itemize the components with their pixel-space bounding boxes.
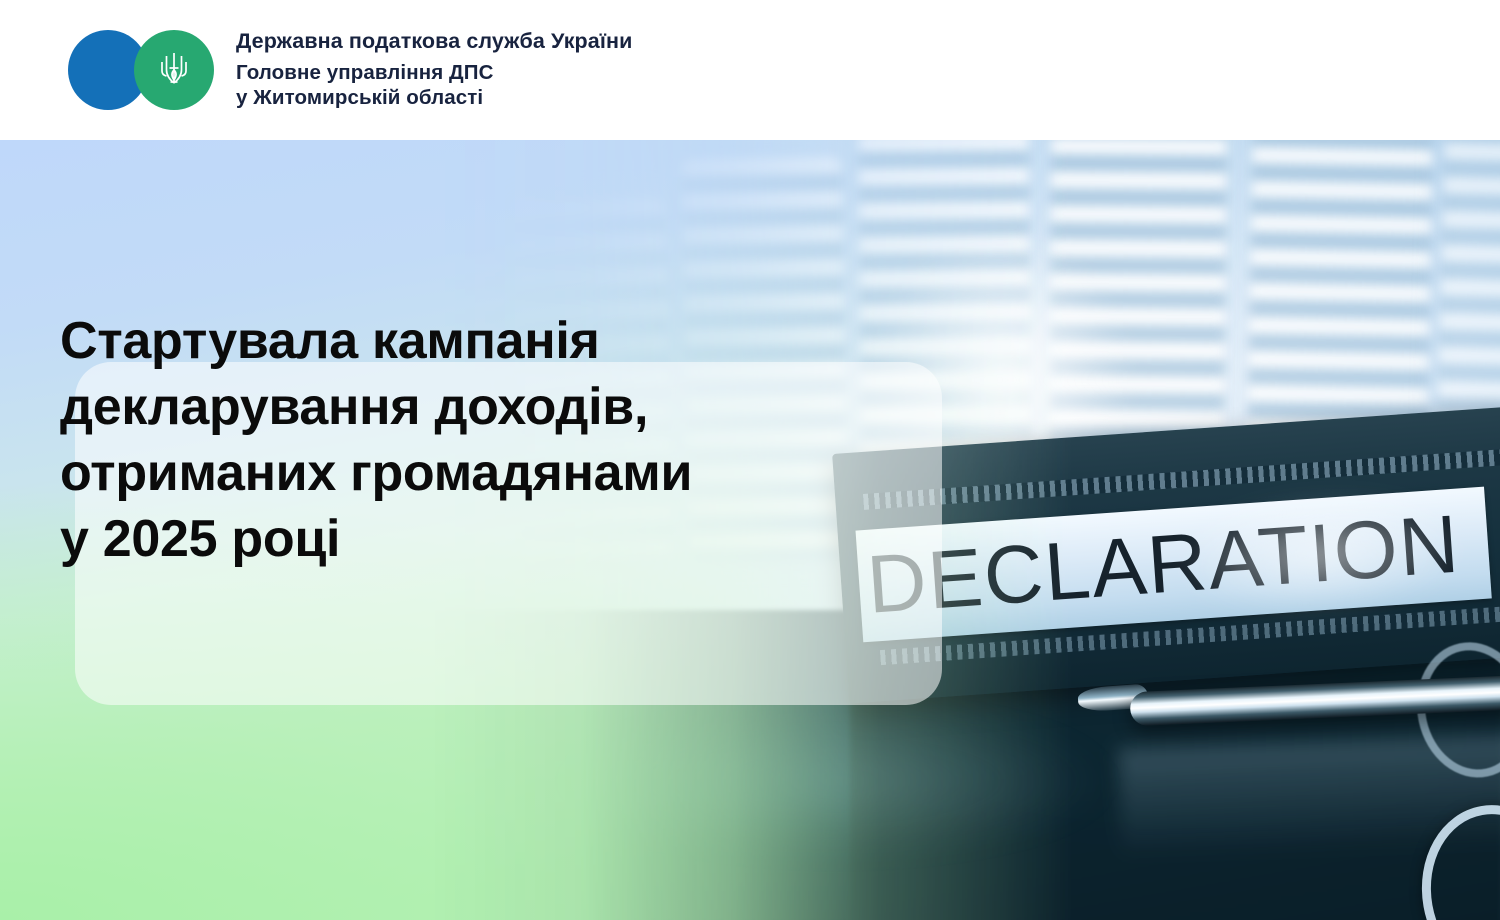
banner-canvas: DECLARATION Стартувала кампанія декларув… xyxy=(0,140,1500,920)
agency-name-block: Державна податкова служба України Головн… xyxy=(236,31,632,109)
desk-reflection xyxy=(550,700,1190,880)
header-bar: Державна податкова служба України Головн… xyxy=(0,0,1500,140)
poster: Державна податкова служба України Головн… xyxy=(0,0,1500,920)
logo-green-circle-icon xyxy=(134,30,214,110)
banner-title: Стартувала кампанія декларування доходів… xyxy=(60,308,960,572)
pen-reflection xyxy=(1118,732,1500,859)
agency-name-line-1: Державна податкова служба України xyxy=(236,31,632,53)
agency-logo xyxy=(68,30,214,110)
agency-name-line-3: у Житомирській області xyxy=(236,88,632,109)
agency-name-line-2: Головне управління ДПС xyxy=(236,63,632,84)
ukraine-trident-icon xyxy=(159,50,189,90)
